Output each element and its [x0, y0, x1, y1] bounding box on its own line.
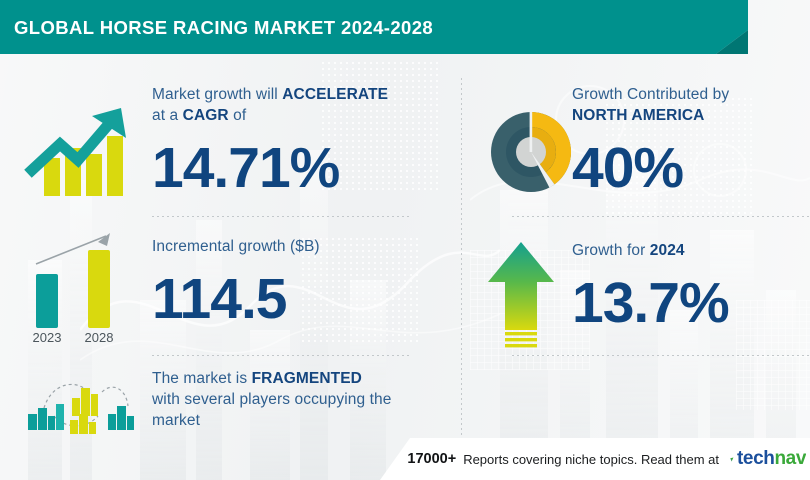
fragmentation-block: The market is FRAGMENTED with several pl…: [152, 368, 452, 431]
technavio-logo[interactable]: technav: [730, 448, 806, 470]
region-line1: Growth Contributed by: [572, 86, 729, 103]
logo-text-part1: tech: [737, 448, 774, 469]
frag-line2: with several players occupying the: [152, 391, 391, 408]
frag-line1-prefix: The market is: [152, 370, 252, 387]
up-arrow-icon: [484, 240, 558, 350]
footer-report-count: 17000+: [407, 451, 456, 467]
cagr-line1-strong: ACCELERATE: [282, 86, 388, 103]
year-growth-block: Growth for 2024 13.7%: [572, 240, 810, 332]
technavio-wordmark: technav: [737, 448, 806, 470]
cagr-line2-suffix: of: [229, 107, 247, 124]
column-divider: [461, 78, 462, 440]
frag-line3: market: [152, 412, 200, 429]
logo-text-part2: nav: [774, 448, 806, 469]
incremental-growth-block: Incremental growth ($B) 114.5: [152, 236, 452, 328]
frag-line1-strong: FRAGMENTED: [252, 370, 362, 387]
north-america-block: Growth Contributed by NORTH AMERICA 40%: [572, 84, 810, 197]
right-divider-1: [512, 216, 810, 217]
region-value: 40%: [572, 140, 810, 197]
year-growth-label: Growth for 2024: [572, 240, 810, 261]
bar-chart-icon: 2023 2028: [14, 230, 138, 346]
year-growth-value: 13.7%: [572, 275, 810, 332]
cagr-line1-prefix: Market growth will: [152, 86, 282, 103]
bar-label-2028: 2028: [85, 330, 114, 345]
infographic-canvas: GLOBAL HORSE RACING MARKET 2024-2028 Mar…: [0, 0, 810, 480]
cagr-description: Market growth will ACCELERATE at a CAGR …: [152, 84, 452, 126]
year-label-prefix: Growth for: [572, 242, 650, 259]
incremental-value: 114.5: [152, 271, 452, 328]
left-divider-2: [152, 355, 410, 356]
footer-text: Reports covering niche topics. Read them…: [463, 452, 719, 467]
fragmented-market-icon: [14, 372, 138, 436]
donut-chart-icon: [484, 104, 578, 200]
growth-arrow-icon: [22, 96, 140, 204]
technavio-logo-icon: [730, 451, 734, 468]
cagr-line2-strong: CAGR: [183, 107, 229, 124]
cagr-line2-prefix: at a: [152, 107, 183, 124]
bar-label-2023: 2023: [33, 330, 62, 345]
left-divider-1: [152, 216, 410, 217]
cagr-block: Market growth will ACCELERATE at a CAGR …: [152, 84, 452, 197]
right-divider-2: [512, 355, 810, 356]
footer-content: 17000+ Reports covering niche topics. Re…: [0, 438, 810, 480]
cagr-value: 14.71%: [152, 140, 452, 197]
year-label-strong: 2024: [650, 242, 685, 259]
incremental-label: Incremental growth ($B): [152, 236, 452, 257]
fragmentation-description: The market is FRAGMENTED with several pl…: [152, 368, 452, 431]
region-line2-strong: NORTH AMERICA: [572, 107, 704, 124]
region-description: Growth Contributed by NORTH AMERICA: [572, 84, 810, 126]
page-title: GLOBAL HORSE RACING MARKET 2024-2028: [14, 17, 433, 39]
